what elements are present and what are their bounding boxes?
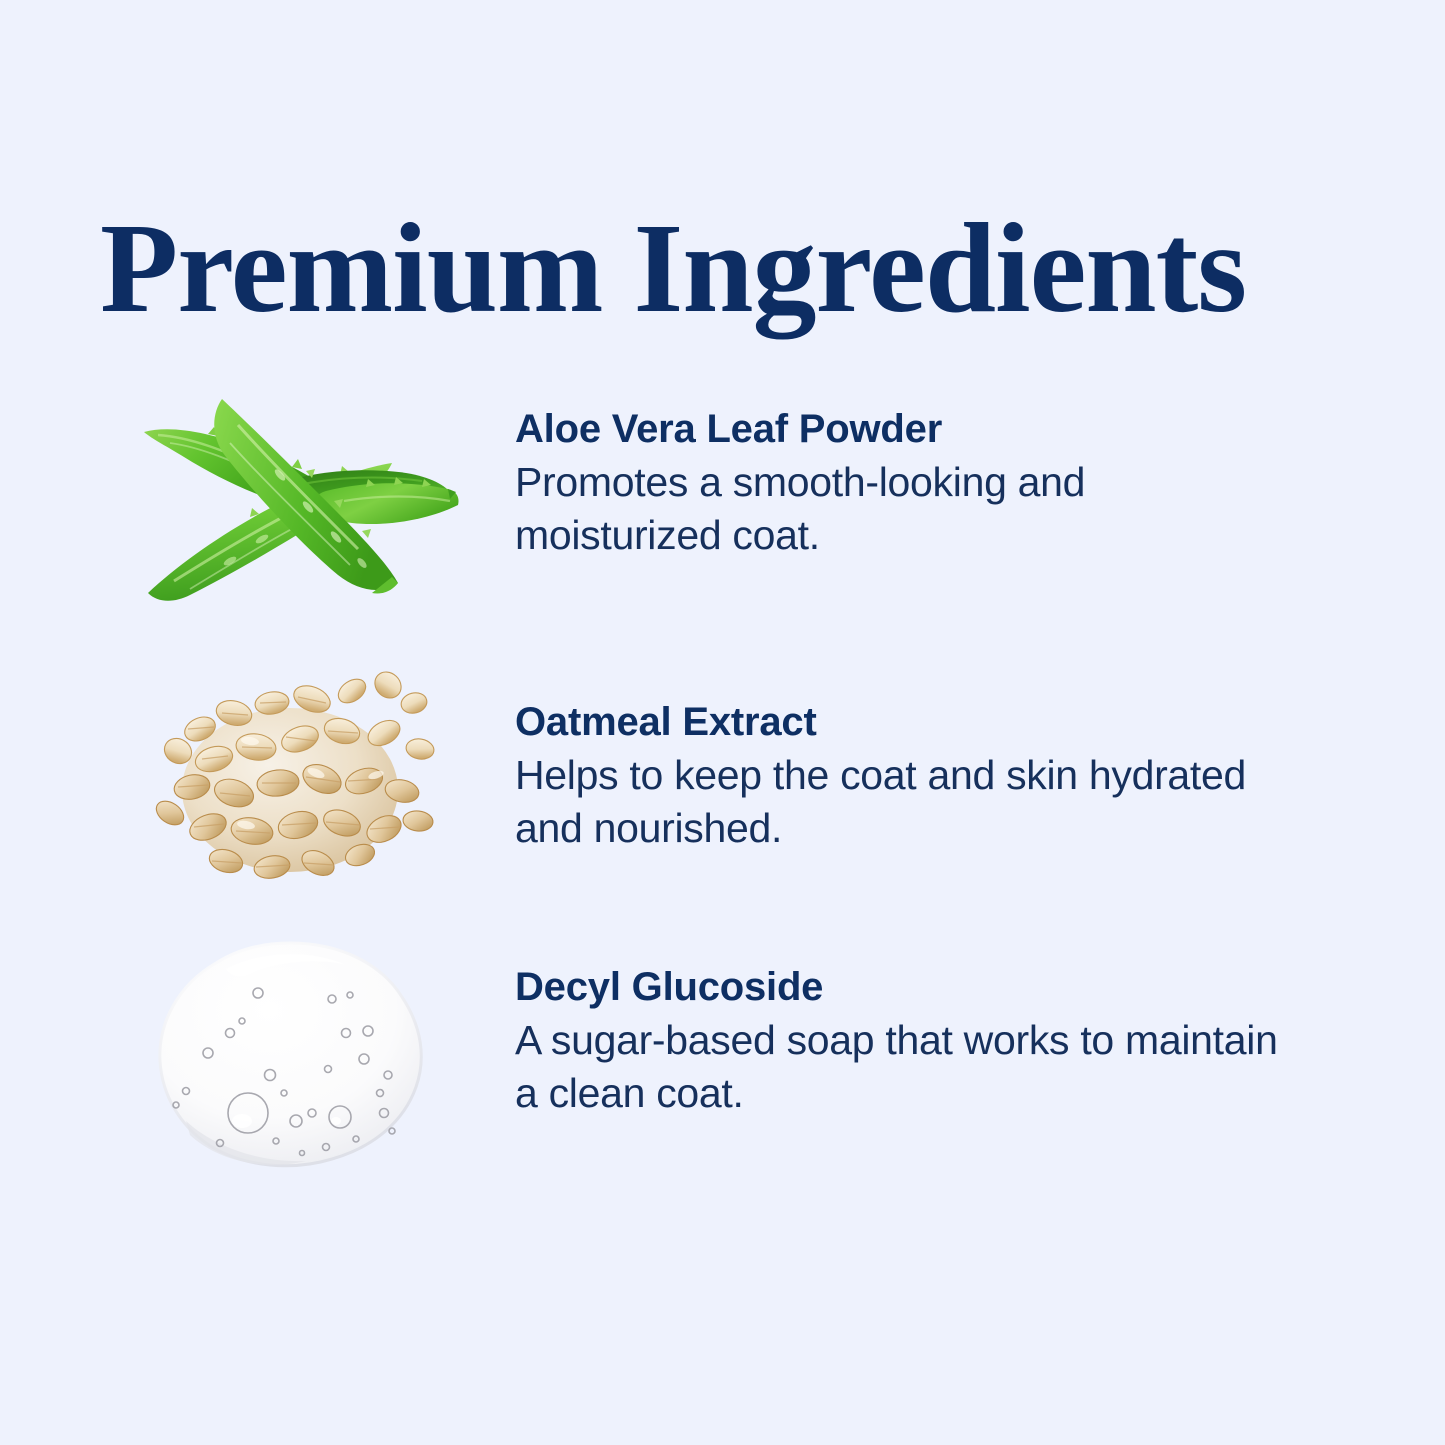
ingredient-name: Aloe Vera Leaf Powder [515,407,1295,452]
clear-gel-blob-image [130,935,460,1175]
ingredient-description: Helps to keep the coat and skin hydrated… [515,749,1295,856]
aloe-vera-leaves-image [130,385,460,625]
ingredient-text-block: Aloe Vera Leaf Powder Promotes a smooth-… [515,407,1295,562]
ingredient-name: Oatmeal Extract [515,700,1295,745]
ingredient-description: Promotes a smooth-looking and moisturize… [515,456,1295,563]
oatmeal-flakes-image [130,655,460,895]
premium-ingredients-page: Premium Ingredients [0,0,1445,1445]
ingredient-description: A sugar-based soap that works to maintai… [515,1014,1295,1121]
ingredient-name: Decyl Glucoside [515,965,1295,1010]
ingredient-text-block: Oatmeal Extract Helps to keep the coat a… [515,700,1295,855]
ingredient-text-block: Decyl Glucoside A sugar-based soap that … [515,965,1295,1120]
ingredient-list: Aloe Vera Leaf Powder Promotes a smooth-… [0,0,1445,1445]
